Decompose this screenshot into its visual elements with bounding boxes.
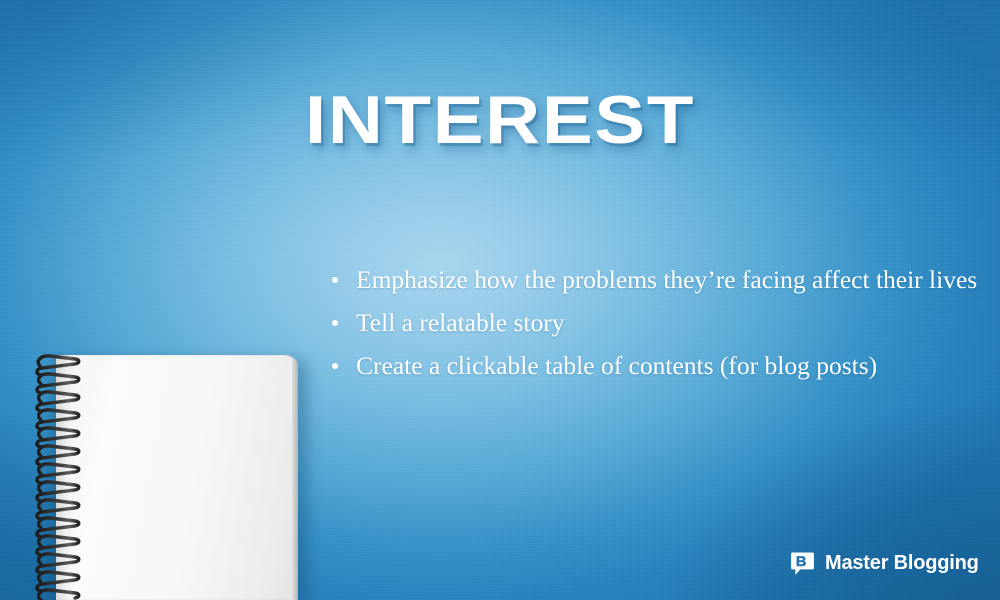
notebook-page: [56, 355, 298, 600]
brand-name-text: Master Blogging: [825, 552, 979, 575]
notebook-spiral-coil-icon: [34, 352, 90, 600]
bullet-item: Create a clickable table of contents (fo…: [324, 344, 996, 387]
bullet-list: Emphasize how the problems they’re facin…: [324, 258, 996, 387]
slide-title: INTEREST: [0, 86, 1000, 154]
bullet-item: Emphasize how the problems they’re facin…: [324, 258, 996, 301]
notebook-page-stack-edge: [292, 358, 298, 600]
slide-canvas: INTEREST Emphasize how the problems they…: [0, 0, 1000, 600]
brand-logo[interactable]: Master Blogging: [789, 546, 979, 580]
spiral-notebook-image: [0, 344, 310, 600]
bullet-item: Tell a relatable story: [324, 301, 996, 344]
speech-bubble-b-icon: [789, 550, 816, 577]
